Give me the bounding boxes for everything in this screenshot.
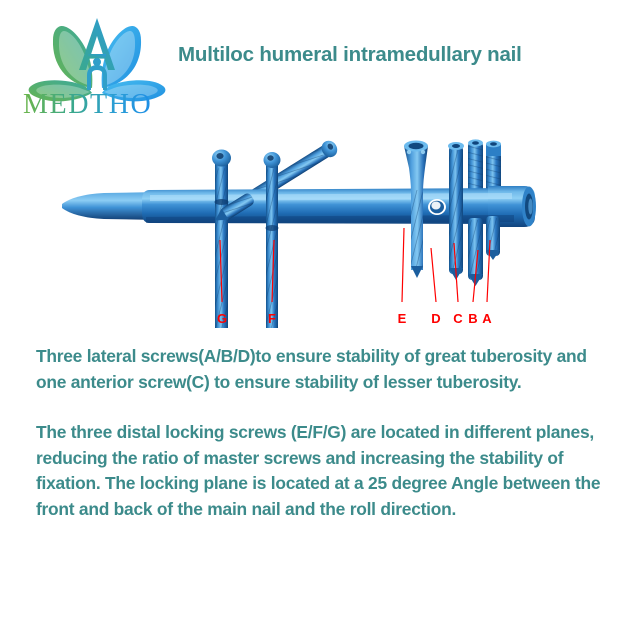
screw-g [212,150,231,329]
nail-diagram [0,128,640,328]
paragraph-two: The three distal locking screws (E/F/G) … [36,420,608,522]
logo-wordmark: MEDTHO [23,89,152,118]
nail-diagram-svg [0,128,640,328]
header: MEDTHO Multiloc humeral intramedullary n… [0,0,640,128]
screw-label-d: D [431,312,440,325]
screw-a-shaft [486,216,500,260]
screw-label-e: E [398,312,407,325]
screw-f [264,152,281,328]
screw-label-c: C [453,312,462,325]
description-text: Three lateral screws(A/B/D)to ensure sta… [36,344,608,522]
medtho-logo: MEDTHO [22,10,172,118]
screw-label-g: G [217,312,227,325]
screw-label-b: B [468,312,477,325]
paragraph-one: Three lateral screws(A/B/D)to ensure sta… [36,344,608,395]
screw-label-a: A [482,312,491,325]
screw-label-f: F [268,312,276,325]
screw-c [448,142,464,280]
logo-figure-icon [87,65,107,90]
screw-b-shaft [468,218,483,286]
lotus-leaf-logo-icon: MEDTHO [22,10,172,118]
page-root: MEDTHO Multiloc humeral intramedullary n… [0,0,640,640]
logo-figure-head-icon [93,58,101,66]
page-title: Multiloc humeral intramedullary nail [178,42,618,68]
nail-shaft [62,186,536,227]
logo-letter-a-crossbar [88,54,106,59]
